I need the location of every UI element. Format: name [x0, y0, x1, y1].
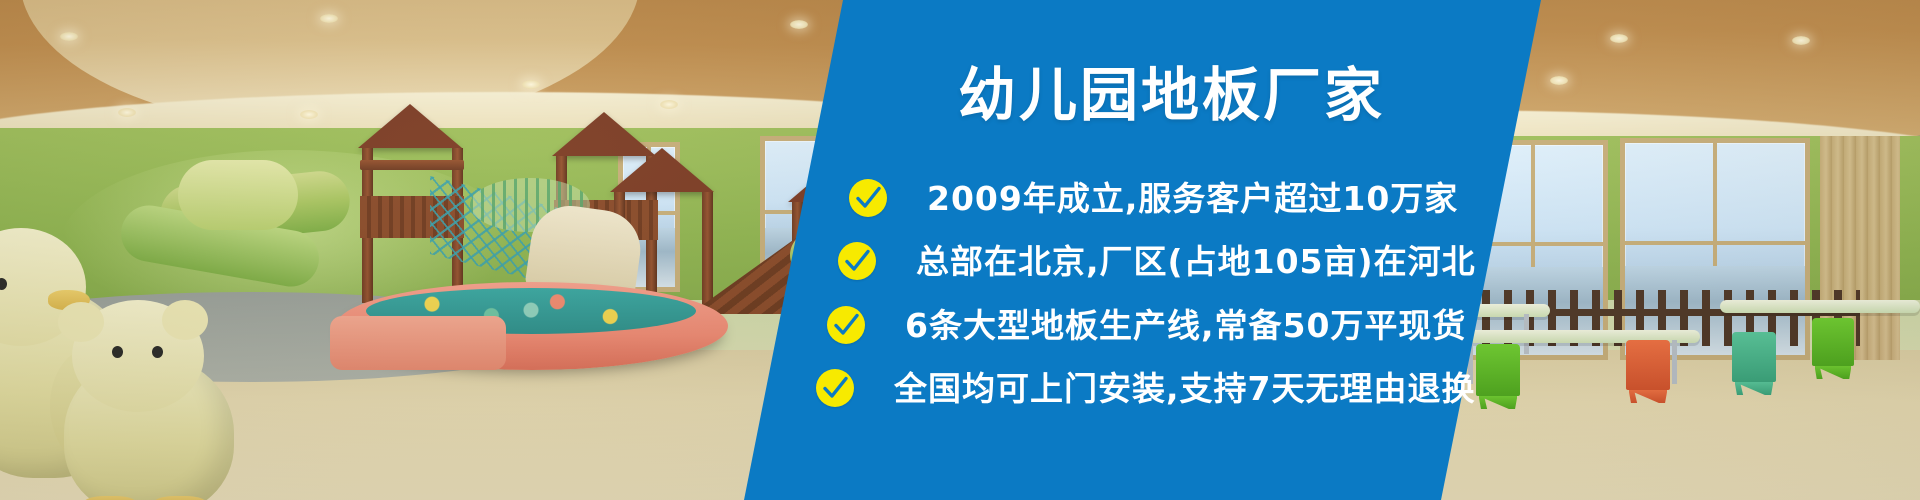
duck-foot [84, 496, 136, 500]
duck-ear [58, 302, 104, 342]
classroom-chair [1476, 344, 1520, 396]
classroom-chair [1626, 340, 1670, 390]
downlight-icon [320, 14, 338, 23]
duck-foot [154, 496, 206, 500]
downlight-icon [660, 100, 678, 109]
duck-ear [162, 300, 208, 340]
playset-rail [360, 160, 464, 170]
downlight-icon [1792, 36, 1810, 45]
kindergarten-floor-banner: 幼儿园地板厂家 2009年成立,服务客户超过10万家 总部在北京,厂区(占地10… [0, 0, 1920, 500]
classroom-chair [1732, 332, 1776, 382]
ball-pit-steps [330, 316, 506, 370]
downlight-icon [522, 80, 540, 89]
downlight-icon [118, 108, 136, 117]
downlight-icon [60, 32, 78, 41]
downlight-icon [1610, 34, 1628, 43]
playset-roof [358, 104, 462, 148]
duck-mascot [58, 300, 258, 500]
duck-eye [152, 346, 163, 358]
classroom-table [1720, 300, 1920, 313]
downlight-icon [300, 110, 318, 119]
duck-eye [112, 346, 123, 358]
downlight-icon [1550, 76, 1568, 85]
tube-slide [178, 160, 298, 230]
table-leg [1672, 340, 1677, 384]
classroom-chair [1812, 318, 1854, 366]
downlight-icon [790, 20, 808, 29]
playset-roof [610, 148, 714, 192]
